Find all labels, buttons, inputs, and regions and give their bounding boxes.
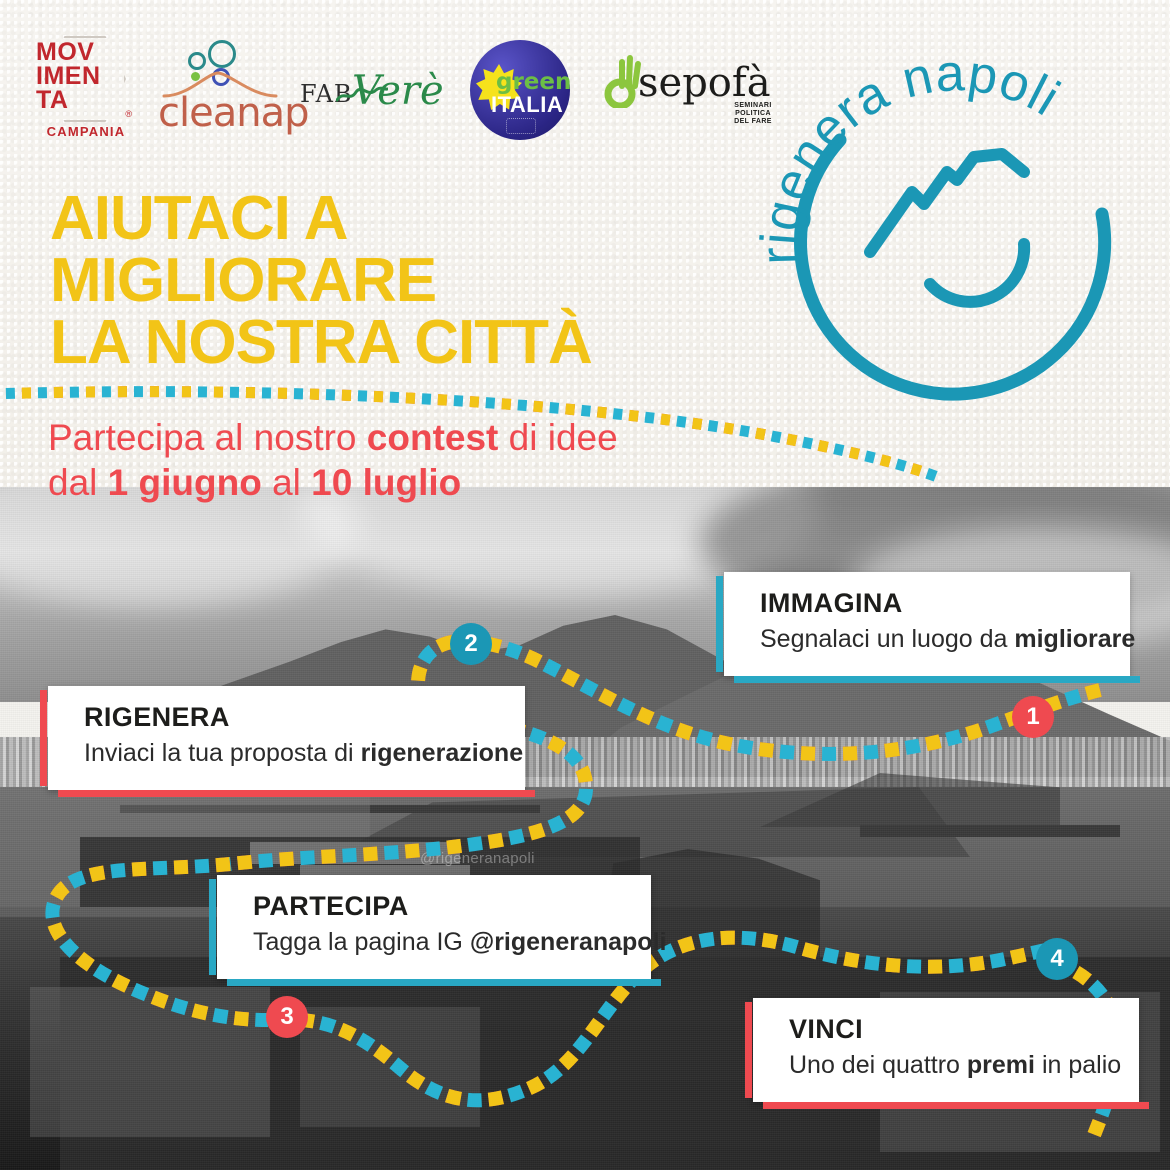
card-vinci-subtitle: Uno dei quattro premi in palio <box>789 1051 1121 1080</box>
greenitalia-italia-text: ITALIA <box>491 92 563 118</box>
subtitle-1b: contest <box>367 417 499 458</box>
contest-subtitle: Partecipa al nostro contest di idee dal … <box>48 415 748 505</box>
card-immagina-subtitle: Segnalaci un luogo da migliorare <box>760 625 1135 654</box>
card-partecipa-sub-a: Tagga la pagina IG <box>253 928 470 956</box>
logo-cleanap: cleanap <box>160 38 280 138</box>
fabvere-vere-text: Verè <box>352 68 444 114</box>
card-vinci-sub-c: in palio <box>1035 1051 1121 1079</box>
movimenta-wordmark: MOV IMEN TA <box>36 40 136 112</box>
page-title: AIUTACI A MIGLIORARE LA NOSTRA CITTÀ <box>50 188 750 374</box>
card-rigenera-title: RIGENERA <box>84 702 230 733</box>
card-rigenera-subtitle: Inviaci la tua proposta di rigenerazione <box>84 739 523 768</box>
route-marker-2[interactable]: 2 <box>450 623 492 665</box>
subtitle-line-1: Partecipa al nostro contest di idee <box>48 415 748 460</box>
route-marker-3[interactable]: 3 <box>266 996 308 1038</box>
headline-line-3: LA NOSTRA CITTÀ <box>50 312 750 374</box>
rigenera-napoli-logo: rigenera napoli <box>752 22 1152 422</box>
card-partecipa-accent-left <box>209 879 216 975</box>
card-vinci-sub-b: premi <box>967 1051 1035 1079</box>
card-vinci[interactable]: VINCI Uno dei quattro premi in palio <box>753 998 1139 1102</box>
svg-text:rigenera napoli: rigenera napoli <box>750 44 1069 265</box>
headline-line-1: AIUTACI A <box>50 188 750 250</box>
card-rigenera-accent-bottom <box>58 790 535 797</box>
card-partecipa[interactable]: PARTECIPA Tagga la pagina IG @rigenerana… <box>217 875 651 979</box>
card-partecipa-subtitle: Tagga la pagina IG @rigeneranapoli <box>253 928 666 957</box>
route-marker-1[interactable]: 1 <box>1012 696 1054 738</box>
card-rigenera-sub-a: Inviaci la tua proposta di <box>84 739 361 767</box>
poster-canvas: @rigeneranapoli MOV IMEN TA ® CAMPANIA c… <box>0 0 1170 1170</box>
card-partecipa-accent-bottom <box>227 979 661 986</box>
subtitle-2d: 10 luglio <box>311 462 461 503</box>
photo-watermark: @rigeneranapoli <box>420 850 535 867</box>
card-immagina-accent-left <box>716 576 723 672</box>
card-vinci-title: VINCI <box>789 1014 863 1045</box>
route-marker-4[interactable]: 4 <box>1036 938 1078 980</box>
card-vinci-sub-a: Uno dei quattro <box>789 1051 967 1079</box>
subtitle-2b: 1 giugno <box>108 462 262 503</box>
brand-circular-text: rigenera napoli <box>750 44 1069 265</box>
subtitle-line-2: dal 1 giugno al 10 luglio <box>48 460 748 505</box>
logo-sepofa: sepofà SEMINARI POLITICA DEL FARE <box>600 58 760 128</box>
card-immagina-sub-a: Segnalaci un luogo da <box>760 625 1014 653</box>
card-immagina-sub-b: migliorare <box>1014 625 1135 653</box>
logo-fab-vere: FAB Verè <box>300 62 435 122</box>
logo-movimenta: MOV IMEN TA ® CAMPANIA <box>36 36 136 141</box>
headline-line-2: MIGLIORARE <box>50 250 750 312</box>
subtitle-2a: dal <box>48 462 108 503</box>
registered-icon: ® <box>125 109 132 119</box>
movimenta-line-3: TA <box>36 88 136 112</box>
card-rigenera-sub-b: rigenerazione <box>361 739 524 767</box>
card-immagina[interactable]: IMMAGINA Segnalaci un luogo da migliorar… <box>724 572 1130 676</box>
subtitle-1c: di idee <box>498 417 617 458</box>
sepofa-wordmark: sepofà <box>638 60 771 106</box>
cleanap-bubble-1-icon <box>208 40 236 68</box>
subtitle-1a: Partecipa al nostro <box>48 417 367 458</box>
card-rigenera-accent-left <box>40 690 47 786</box>
movimenta-line-1: MOV <box>36 40 136 64</box>
card-immagina-accent-bottom <box>734 676 1140 683</box>
card-partecipa-sub-b: @rigeneranapoli <box>470 928 667 956</box>
cleanap-bubble-2-icon <box>188 52 206 70</box>
movimenta-subtitle: CAMPANIA <box>36 124 136 139</box>
subtitle-2c: al <box>262 462 311 503</box>
card-partecipa-title: PARTECIPA <box>253 891 409 922</box>
card-rigenera[interactable]: RIGENERA Inviaci la tua proposta di rige… <box>48 686 525 790</box>
card-immagina-title: IMMAGINA <box>760 588 903 619</box>
logo-green-italia: green ITALIA <box>470 40 570 140</box>
card-vinci-accent-bottom <box>763 1102 1149 1109</box>
movimenta-line-2: IMEN <box>36 64 136 88</box>
card-vinci-accent-left <box>745 1002 752 1098</box>
eu-stars-icon <box>506 118 536 134</box>
cleanap-wordmark: cleanap <box>158 90 308 136</box>
